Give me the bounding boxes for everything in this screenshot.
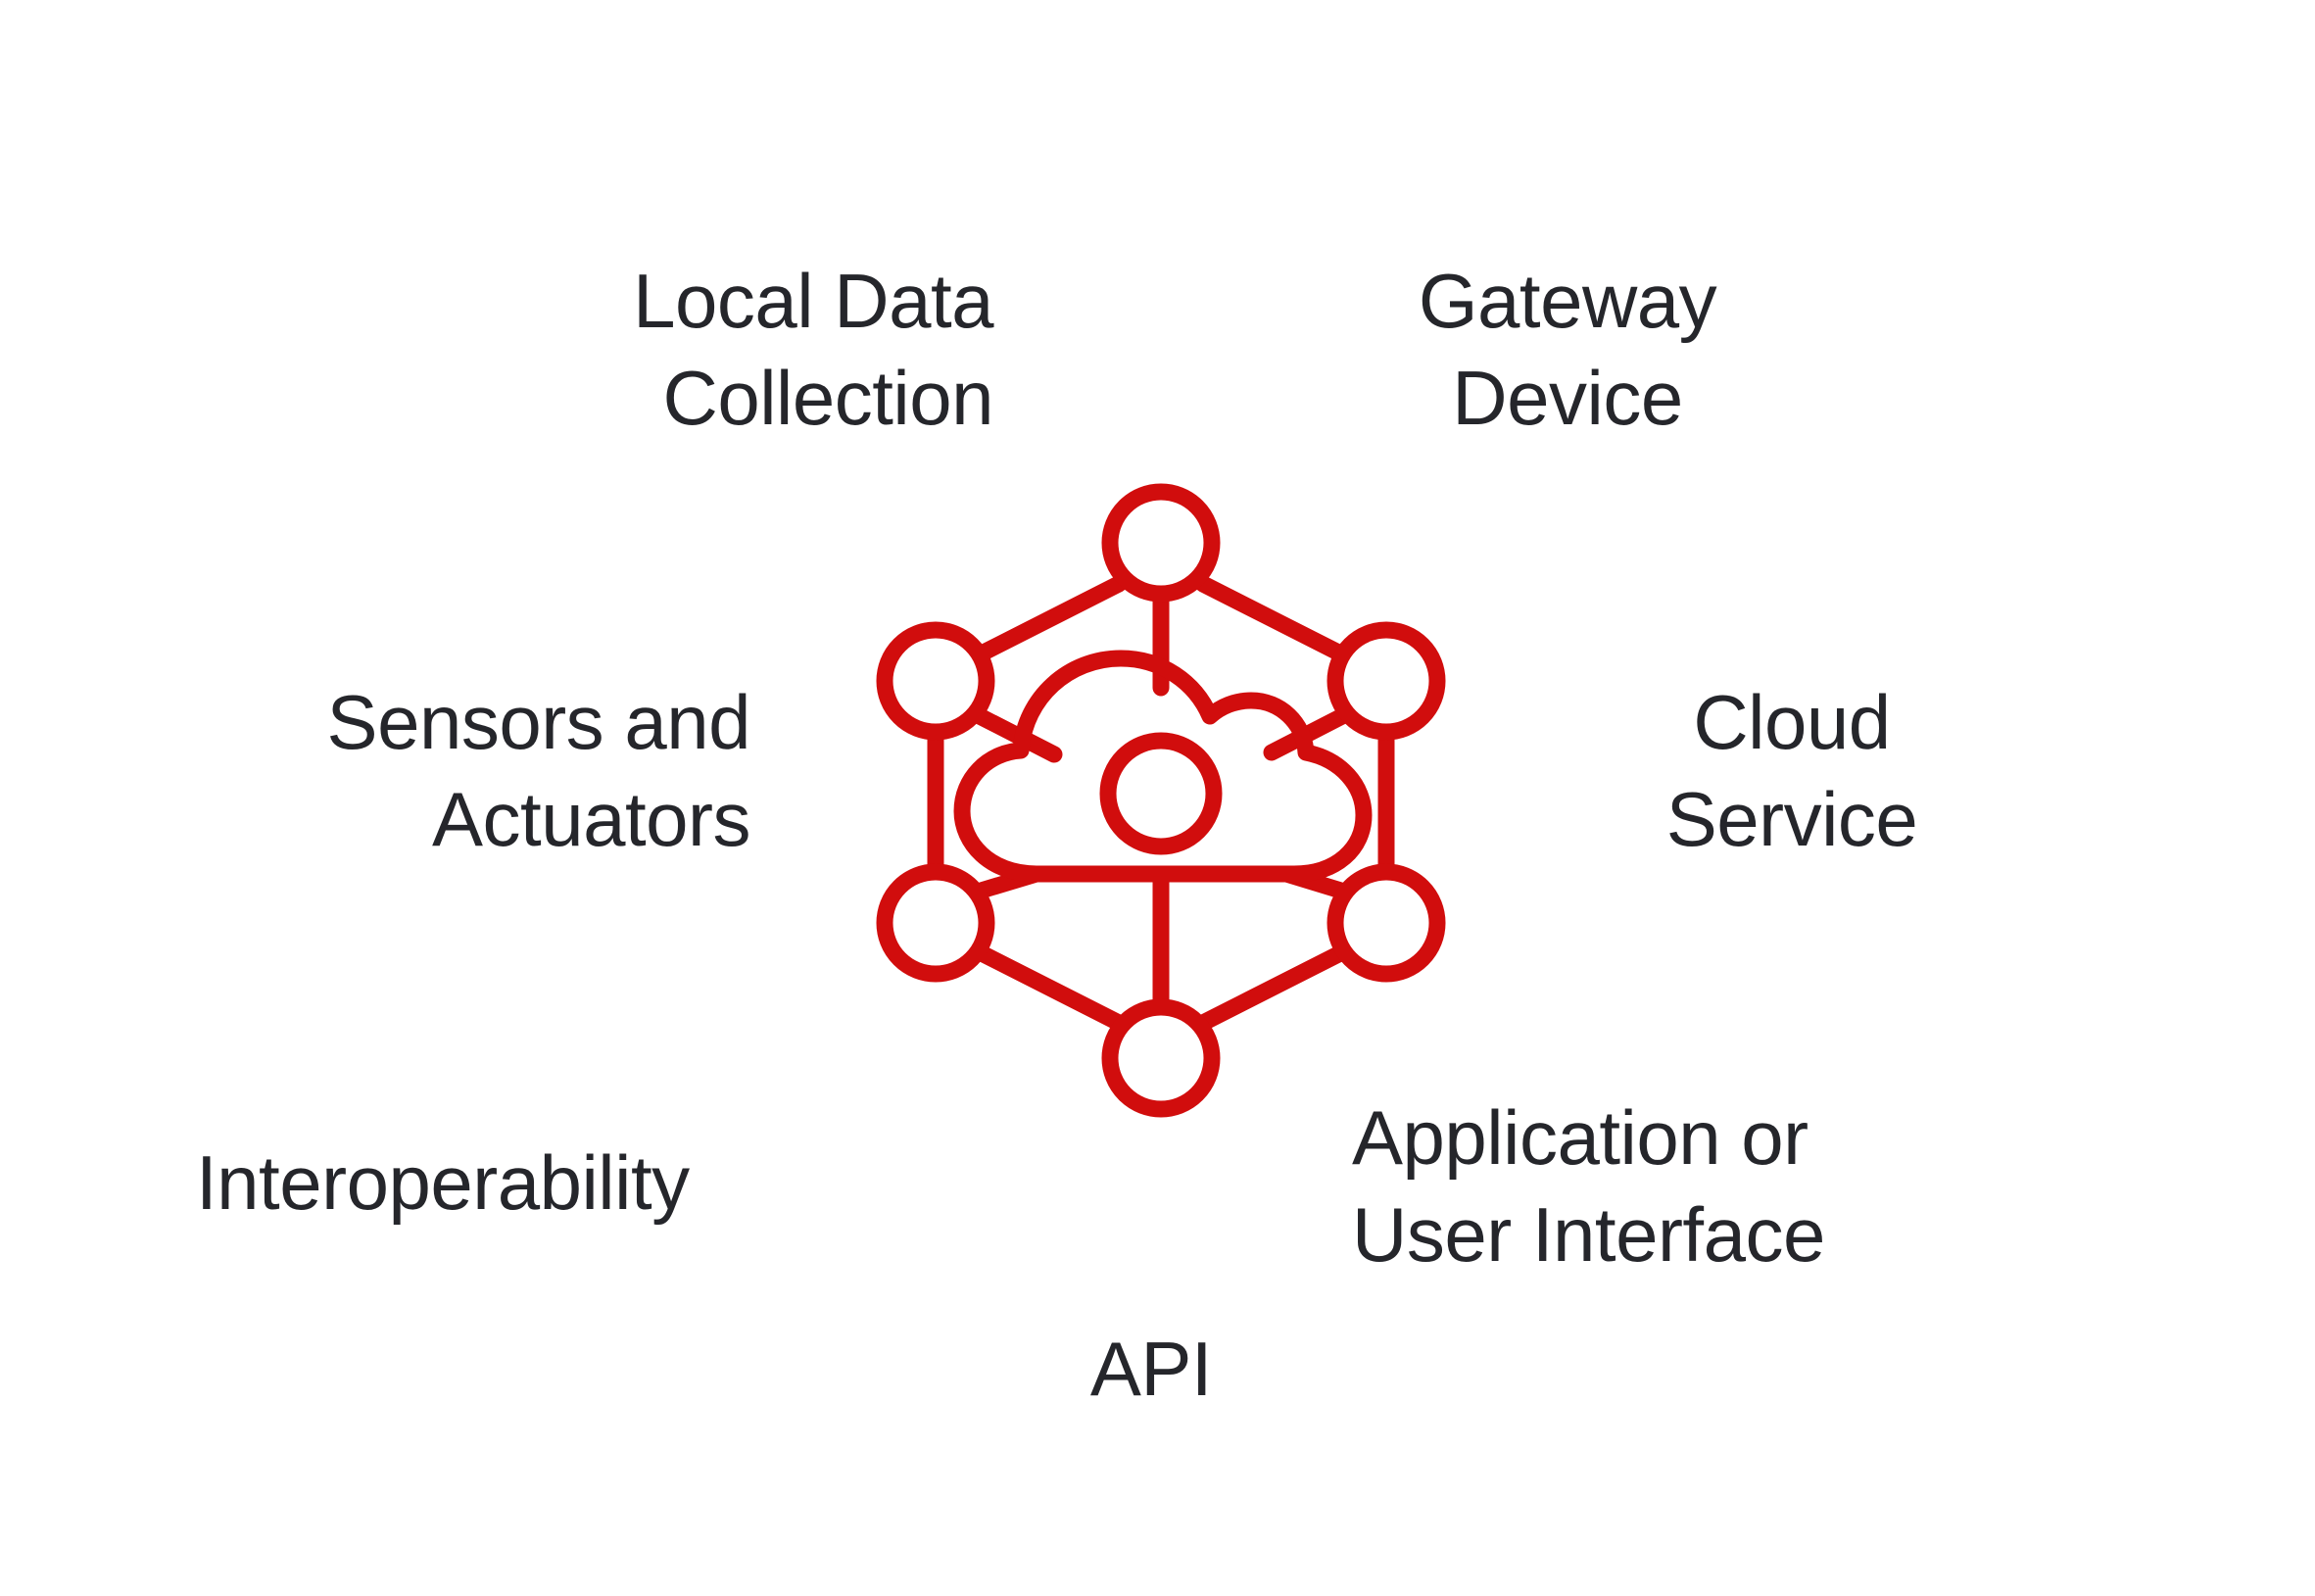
icon-strokes [885, 492, 1437, 1109]
node-bottom [1110, 1007, 1212, 1109]
node-top [1110, 492, 1212, 594]
label-gateway-device: Gateway Device [1274, 253, 1861, 447]
diagram-canvas: Local Data Collection Gateway Device Sen… [0, 0, 2315, 1596]
label-interoperability: Interoperability [196, 1135, 991, 1232]
label-sensors-and-actuators: Sensors and Actuators [59, 674, 750, 868]
label-local-data-collection: Local Data Collection [294, 253, 993, 447]
node-upper-right [1335, 630, 1437, 732]
edge-lower-left-to-bottom [978, 951, 1119, 1023]
edge-top-to-upper-left [978, 584, 1119, 655]
node-upper-left [885, 630, 987, 732]
label-api: API [940, 1321, 1362, 1418]
edge-lower-right-to-bottom [1203, 951, 1344, 1023]
cloud-center-circle [1108, 741, 1214, 846]
edge-top-to-upper-right [1203, 584, 1344, 655]
node-lower-left [885, 872, 987, 974]
iot-network-cloud-icon [862, 470, 1470, 1137]
node-lower-right [1335, 872, 1437, 974]
network-icon-svg [862, 470, 1470, 1137]
label-cloud-service: Cloud Service [1509, 674, 2075, 868]
